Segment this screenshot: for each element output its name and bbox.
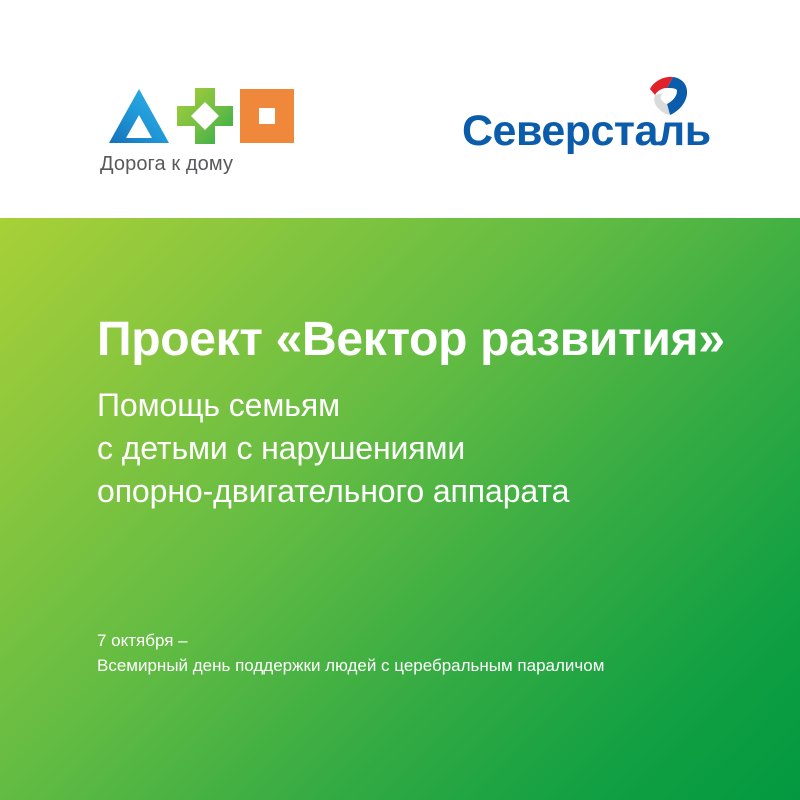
square-icon <box>240 89 294 143</box>
subtitle-line-2: с детьми с нарушениями <box>97 427 569 470</box>
subtitle-line-1: Помощь семьям <box>97 384 569 427</box>
severstal-logo: Северсталь <box>462 76 692 156</box>
poster: Дорога к дому Северсталь Проект «Вектор … <box>0 0 800 800</box>
severstal-wordmark: Северсталь <box>462 108 711 154</box>
green-gradient-panel: Проект «Вектор развития» Помощь семьям с… <box>0 218 800 800</box>
triangle-icon <box>108 88 170 144</box>
header-band: Дорога к дому Северсталь <box>0 0 800 218</box>
subtitle-block: Помощь семьям с детьми с нарушениями опо… <box>97 384 569 513</box>
doroga-logo-caption: Дорога к дому <box>100 152 290 176</box>
date-line-1: 7 октября – <box>97 628 604 653</box>
date-block: 7 октября – Всемирный день поддержки люд… <box>97 628 604 678</box>
doroga-k-domu-logo: Дорога к дому <box>100 88 290 176</box>
subtitle-line-3: опорно-двигательного аппарата <box>97 470 569 513</box>
doroga-logo-marks <box>100 88 282 146</box>
date-line-2: Всемирный день поддержки людей с церебра… <box>97 653 604 678</box>
page-title: Проект «Вектор развития» <box>97 312 725 368</box>
cross-icon <box>177 88 233 144</box>
